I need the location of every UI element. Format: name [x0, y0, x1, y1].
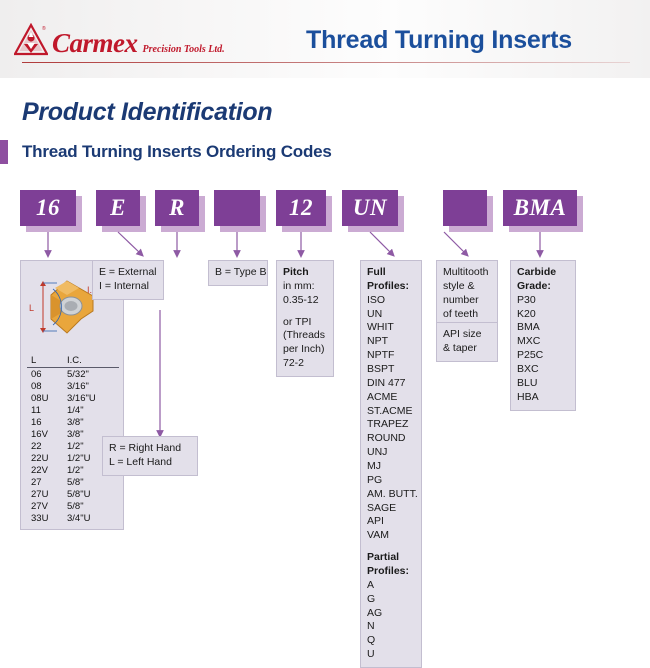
- api-size-box: API size& taper: [436, 322, 498, 362]
- full-profile-item: MJ: [367, 460, 415, 474]
- code-box-12[interactable]: 12: [276, 190, 326, 226]
- api-line: API size: [443, 328, 491, 342]
- table-row: 33U3/4"U: [27, 512, 119, 524]
- partial-profiles-title: Profiles:: [367, 565, 415, 579]
- hand-direction-line: R = Right Hand: [109, 442, 191, 456]
- lic-header-l: L: [27, 355, 63, 368]
- lic-cell-l: 27: [27, 476, 63, 488]
- partial-profile-item: Q: [367, 634, 415, 648]
- multitooth-box: Multitoothstyle &numberof teeth: [436, 260, 498, 327]
- api-line: & taper: [443, 342, 491, 356]
- page-title: Product Identification: [22, 98, 272, 127]
- lic-cell-l: 08U: [27, 392, 63, 404]
- code-box-16[interactable]: 16: [20, 190, 76, 226]
- partial-profile-item: G: [367, 593, 415, 607]
- lic-cell-ic: 5/32": [63, 368, 119, 381]
- code-box-blank-6[interactable]: [443, 190, 487, 226]
- insert-dimension-box: I.C. L LI.C. 065/32"083/16"08U3/16"U111/…: [20, 260, 124, 530]
- table-row: 275/8": [27, 476, 119, 488]
- lic-cell-l: 27U: [27, 488, 63, 500]
- lic-cell-ic: 3/16"U: [63, 392, 119, 404]
- brand-logo: ® Carmex Precision Tools Ltd.: [14, 23, 225, 57]
- full-profile-item: PG: [367, 474, 415, 488]
- full-profile-item: NPT: [367, 335, 415, 349]
- full-profile-item: ST.ACME: [367, 405, 415, 419]
- spacer: [283, 308, 327, 316]
- lic-cell-ic: 5/8": [63, 476, 119, 488]
- carbide-grade-item: HBA: [517, 391, 569, 405]
- table-header-row: LI.C.: [27, 355, 119, 368]
- lic-cell-l: 06: [27, 368, 63, 381]
- lic-cell-l: 33U: [27, 512, 63, 524]
- full-profile-item: ACME: [367, 391, 415, 405]
- full-profile-item: ISO: [367, 294, 415, 308]
- table-row: 27V5/8": [27, 500, 119, 512]
- code-box-r[interactable]: R: [155, 190, 199, 226]
- header-divider: [22, 62, 630, 63]
- pitch-line: in mm:: [283, 280, 327, 294]
- pitch-tpi-line: 72-2: [283, 357, 327, 371]
- pitch-tpi-line: (Threads: [283, 329, 327, 343]
- lic-cell-l: 22U: [27, 452, 63, 464]
- multitooth-line: of teeth: [443, 308, 491, 322]
- lic-cell-ic: 5/8"U: [63, 488, 119, 500]
- multitooth-line: number: [443, 294, 491, 308]
- full-profile-item: SAGE: [367, 502, 415, 516]
- carbide-grade-item: BXC: [517, 363, 569, 377]
- full-profile-item: VAM: [367, 529, 415, 543]
- full-profile-item: ROUND: [367, 432, 415, 446]
- full-profile-item: BSPT: [367, 363, 415, 377]
- full-profiles-title: Profiles:: [367, 280, 415, 294]
- multitooth-line: Multitooth: [443, 266, 491, 280]
- carmex-triangle-logo-icon: ®: [14, 23, 48, 57]
- table-row: 111/4": [27, 404, 119, 416]
- carbide-grade-box: CarbideGrade:P30K20BMAMXCP25CBXCBLUHBA: [510, 260, 576, 411]
- lic-cell-l: 16V: [27, 428, 63, 440]
- brand-tagline: Precision Tools Ltd.: [143, 45, 225, 55]
- lic-cell-ic: 3/16": [63, 380, 119, 392]
- full-profile-item: WHIT: [367, 321, 415, 335]
- full-profile-item: UNJ: [367, 446, 415, 460]
- full-profile-item: TRAPEZ: [367, 418, 415, 432]
- full-profile-item: DIN 477: [367, 377, 415, 391]
- brand-name: Carmex: [52, 30, 138, 57]
- lic-cell-ic: 1/4": [63, 404, 119, 416]
- type-b-line: B = Type B: [215, 266, 261, 280]
- pitch-line: 0.35-12: [283, 294, 327, 308]
- carbide-grade-item: P30: [517, 294, 569, 308]
- lic-header-ic: I.C.: [63, 355, 119, 368]
- lic-cell-ic: 5/8": [63, 500, 119, 512]
- external-internal-line: E = External: [99, 266, 157, 280]
- full-profile-item: AM. BUTT.: [367, 488, 415, 502]
- carbide-grade-item: BMA: [517, 321, 569, 335]
- multitooth-line: style &: [443, 280, 491, 294]
- lic-cell-ic: 3/8": [63, 416, 119, 428]
- partial-profile-item: U: [367, 648, 415, 662]
- lic-cell-l: 22V: [27, 464, 63, 476]
- pitch-tpi-line: or TPI: [283, 316, 327, 330]
- spacer: [367, 543, 415, 551]
- lic-cell-l: 16: [27, 416, 63, 428]
- svg-text:®: ®: [42, 25, 46, 32]
- lic-cell-ic: 3/4"U: [63, 512, 119, 524]
- code-box-blank-3[interactable]: [214, 190, 260, 226]
- type-b-box: B = Type B: [208, 260, 268, 286]
- full-profile-item: NPTF: [367, 349, 415, 363]
- lic-cell-l: 27V: [27, 500, 63, 512]
- table-row: 08U3/16"U: [27, 392, 119, 404]
- partial-profile-item: N: [367, 620, 415, 634]
- carbide-grade-item: P25C: [517, 349, 569, 363]
- code-box-un[interactable]: UN: [342, 190, 398, 226]
- pitch-title: Pitch: [283, 266, 327, 280]
- table-row: 065/32": [27, 368, 119, 381]
- partial-profile-item: AG: [367, 607, 415, 621]
- table-row: 163/8": [27, 416, 119, 428]
- profiles-box: FullProfiles:ISOUNWHITNPTNPTFBSPTDIN 477…: [360, 260, 422, 668]
- page-header: ® Carmex Precision Tools Ltd. Thread Tur…: [0, 0, 650, 78]
- full-profile-item: UN: [367, 308, 415, 322]
- partial-profile-item: A: [367, 579, 415, 593]
- lic-cell-l: 22: [27, 440, 63, 452]
- document-title: Thread Turning Inserts: [306, 26, 572, 55]
- code-box-e[interactable]: E: [96, 190, 140, 226]
- external-internal-line: I = Internal: [99, 280, 157, 294]
- hand-direction-line: L = Left Hand: [109, 456, 191, 470]
- carbide-grade-item: BLU: [517, 377, 569, 391]
- carbide-grade-title: Grade:: [517, 280, 569, 294]
- right-left-hand-box: R = Right HandL = Left Hand: [102, 436, 198, 476]
- carbide-grade-title: Carbide: [517, 266, 569, 280]
- pitch-tpi-line: per Inch): [283, 343, 327, 357]
- external-internal-box: E = ExternalI = Internal: [92, 260, 164, 300]
- pitch-box: Pitchin mm:0.35-12or TPI(Threadsper Inch…: [276, 260, 334, 377]
- code-box-bma[interactable]: BMA: [503, 190, 577, 226]
- carbide-grade-item: K20: [517, 308, 569, 322]
- full-profile-item: API: [367, 515, 415, 529]
- table-row: 27U5/8"U: [27, 488, 119, 500]
- subsection-accent-bar: [0, 140, 8, 164]
- full-profiles-title: Full: [367, 266, 415, 280]
- partial-profiles-title: Partial: [367, 551, 415, 565]
- subsection-title: Thread Turning Inserts Ordering Codes: [22, 142, 332, 162]
- lic-cell-l: 11: [27, 404, 63, 416]
- carbide-grade-item: MXC: [517, 335, 569, 349]
- table-row: 083/16": [27, 380, 119, 392]
- l-dimension-label: L: [29, 303, 34, 313]
- lic-cell-l: 08: [27, 380, 63, 392]
